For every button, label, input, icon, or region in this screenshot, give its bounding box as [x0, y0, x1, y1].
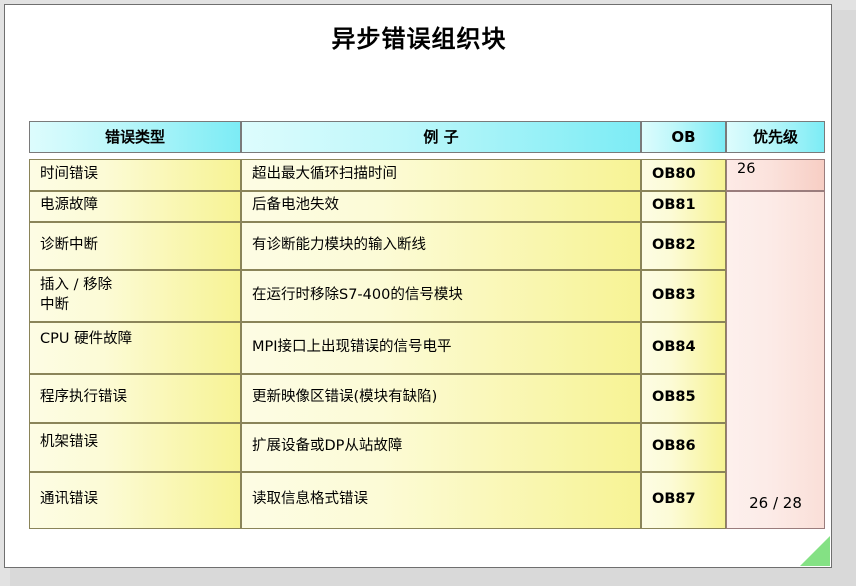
cell-error-type: 时间错误: [29, 159, 241, 191]
cell-example: 读取信息格式错误: [241, 472, 641, 529]
cell-ob: OB84: [641, 322, 726, 374]
table-row: 诊断中断 有诊断能力模块的输入断线 OB82: [29, 222, 825, 270]
cell-example: 在运行时移除S7-400的信号模块: [241, 270, 641, 322]
cell-ob: OB81: [641, 191, 726, 222]
table-row: 通讯错误 读取信息格式错误 OB87: [29, 472, 825, 529]
cell-ob: OB85: [641, 374, 726, 423]
cell-priority-merged: 26 / 28: [726, 191, 825, 529]
cell-error-type: 诊断中断: [29, 222, 241, 270]
table-row: CPU 硬件故障 MPI接口上出现错误的信号电平 OB84: [29, 322, 825, 374]
table-row: 时间错误 超出最大循环扫描时间 OB80 26: [29, 159, 825, 191]
table-row: 插入 / 移除 中断 在运行时移除S7-400的信号模块 OB83: [29, 270, 825, 322]
cell-ob: OB86: [641, 423, 726, 472]
table-header: 错误类型 例 子 OB 优先级: [29, 121, 825, 153]
cell-error-type-line1: 插入 / 移除: [40, 276, 230, 296]
table-row: 程序执行错误 更新映像区错误(模块有缺陷) OB85: [29, 374, 825, 423]
cell-ob: OB82: [641, 222, 726, 270]
async-error-ob-table: 错误类型 例 子 OB 优先级 时间错误 超出最大循环扫描时间 OB80 26 …: [29, 121, 825, 529]
table-body: 时间错误 超出最大循环扫描时间 OB80 26 电源故障 后备电池失效 OB81…: [29, 153, 825, 529]
cell-ob: OB83: [641, 270, 726, 322]
cell-priority-first: 26: [726, 159, 825, 191]
corner-accent-triangle-icon: [800, 536, 830, 566]
cell-ob: OB87: [641, 472, 726, 529]
cell-example: 超出最大循环扫描时间: [241, 159, 641, 191]
page-title: 异步错误组织块: [5, 19, 832, 54]
cell-error-type-line2: 中断: [40, 296, 230, 316]
cell-example: 更新映像区错误(模块有缺陷): [241, 374, 641, 423]
cell-error-type: CPU 硬件故障: [29, 322, 241, 374]
presentation-slide: 异步错误组织块 错误类型 例 子 OB 优先级 时间错误 超出最大循环扫描时间 …: [4, 4, 832, 568]
cell-example: 后备电池失效: [241, 191, 641, 222]
cell-error-type: 机架错误: [29, 423, 241, 472]
cell-error-type: 通讯错误: [29, 472, 241, 529]
cell-example: 有诊断能力模块的输入断线: [241, 222, 641, 270]
column-header-ob: OB: [641, 121, 726, 153]
cell-error-type: 插入 / 移除 中断: [29, 270, 241, 322]
cell-example: MPI接口上出现错误的信号电平: [241, 322, 641, 374]
table-row: 机架错误 扩展设备或DP从站故障 OB86: [29, 423, 825, 472]
column-header-example: 例 子: [241, 121, 641, 153]
cell-ob: OB80: [641, 159, 726, 191]
table-row: 电源故障 后备电池失效 OB81 26 / 28: [29, 191, 825, 222]
cell-example: 扩展设备或DP从站故障: [241, 423, 641, 472]
cell-error-type: 电源故障: [29, 191, 241, 222]
cell-error-type: 程序执行错误: [29, 374, 241, 423]
column-header-priority: 优先级: [726, 121, 825, 153]
column-header-error-type: 错误类型: [29, 121, 241, 153]
table-header-row: 错误类型 例 子 OB 优先级: [29, 121, 825, 153]
